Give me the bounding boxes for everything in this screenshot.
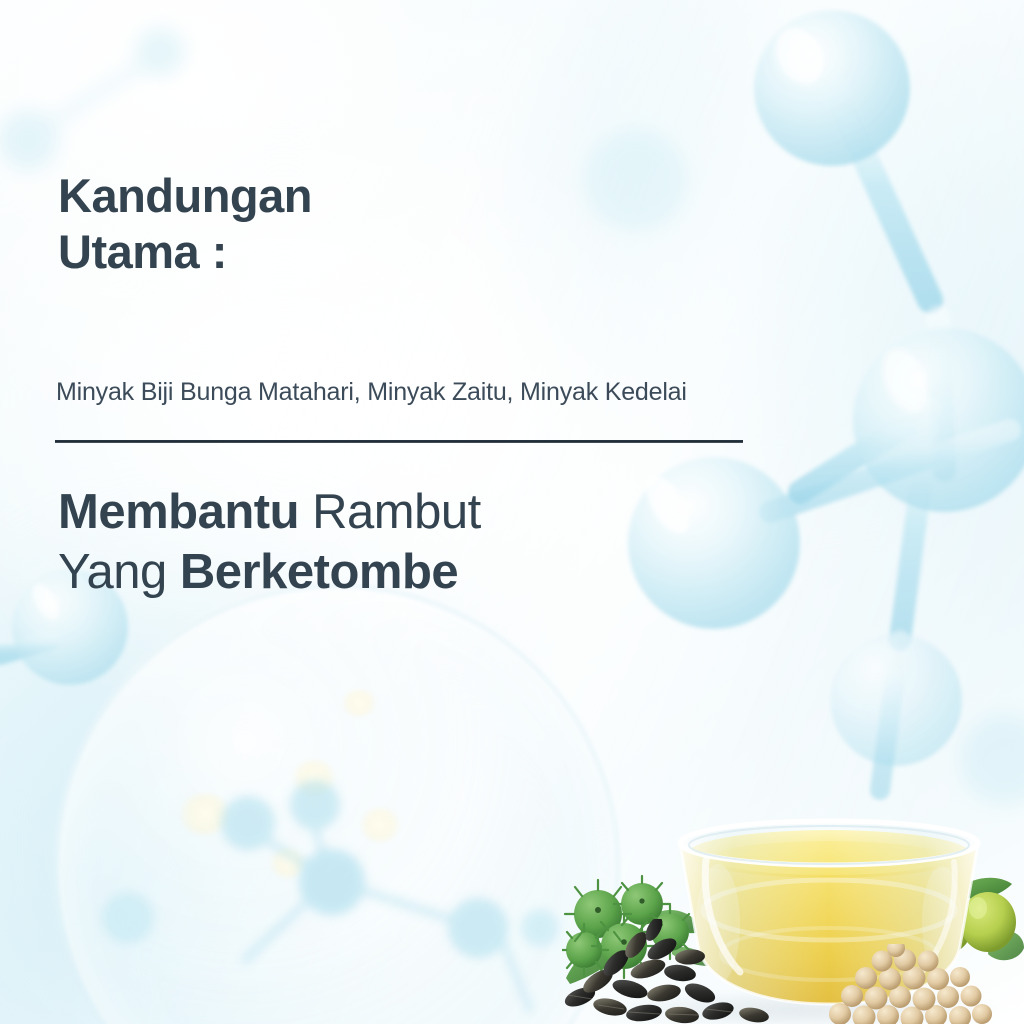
sunflower-seeds-icon	[558, 919, 798, 1024]
soybeans-icon	[826, 944, 996, 1024]
bubble-sparkle-icon	[358, 808, 402, 842]
bubble-sparkle-icon	[290, 760, 338, 796]
tagline-line-1: Membantu Rambut	[58, 483, 481, 543]
tagline-bold-berketombe: Berketombe	[180, 545, 458, 599]
bubble-sparkle-icon	[268, 848, 308, 878]
tagline-bold-membantu: Membantu	[58, 485, 299, 539]
page-title: Kandungan Utama :	[58, 168, 312, 280]
product-composition	[554, 774, 1024, 1024]
tagline-line-2: Yang Berketombe	[58, 543, 481, 603]
tagline-regular-rambut: Rambut	[299, 485, 481, 539]
divider-line	[55, 440, 743, 443]
ingredients-text: Minyak Biji Bunga Matahari, Minyak Zaitu…	[56, 378, 687, 407]
tagline: Membantu Rambut Yang Berketombe	[58, 483, 481, 603]
promo-poster: Kandungan Utama : Minyak Biji Bunga Mata…	[0, 0, 1024, 1024]
tagline-regular-yang: Yang	[58, 545, 180, 599]
bubble-sparkle-icon	[176, 793, 234, 835]
bubble-sparkle-icon	[340, 690, 378, 716]
